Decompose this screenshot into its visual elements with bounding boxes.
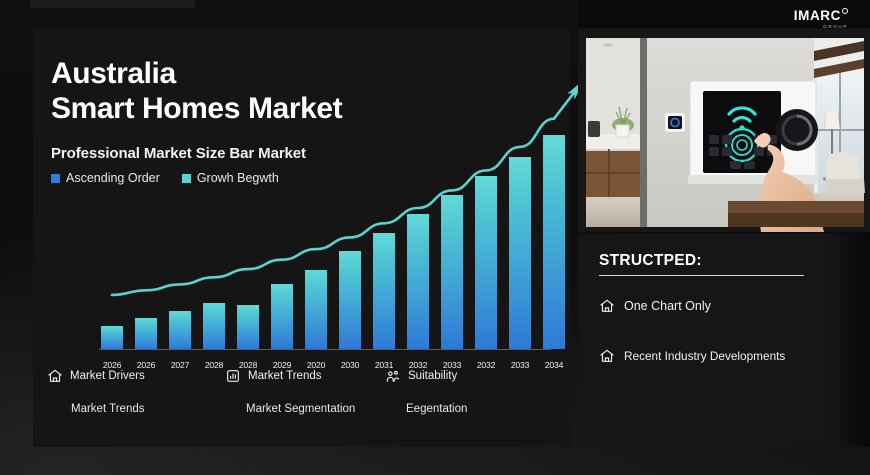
smart-home-illustration [578,29,870,232]
chart-bar [169,311,191,349]
chart-bar [237,305,259,349]
panel-right-fade [828,233,870,447]
structured-panel: STRUCTPED: One Chart Only Recent Industr… [578,233,870,447]
chart-bar [101,326,123,350]
report-icon [225,368,241,384]
feature-list: Market Drivers Market Trends Suitability [47,368,552,417]
chart-bar [373,233,395,349]
panel-divider [599,275,804,276]
feature-item-market-drivers[interactable]: Market Drivers [47,368,225,384]
home-icon [599,348,615,364]
panel-item-one-chart-only[interactable]: One Chart Only [599,298,711,314]
logo-circle-icon [842,8,848,14]
panel-item-label: One Chart Only [624,299,711,313]
feature-item-suitability[interactable]: Suitability [385,368,535,384]
chart-x-axis [99,349,551,350]
chart-bar [407,214,429,349]
panel-title: STRUCTPED: [599,252,702,270]
market-size-bar-chart: 2026202620272028202820292020203020312032… [51,88,551,378]
home-icon [47,368,63,384]
panel-item-label: Recent Industry Developments [624,349,785,363]
chart-bar [305,270,327,349]
chart-bar [271,284,293,349]
feature-row-secondary: Market Trends Market Segmentation Eegent… [47,399,552,417]
people-icon [385,368,401,384]
home-icon [599,298,615,314]
slide-root: IMARC GROUP Australia Smart Homes Market… [0,0,870,475]
chart-bar [441,195,463,349]
feature-label: Suitability [408,370,457,382]
feature-subitem-market-trends[interactable]: Market Trends [47,399,225,417]
title-line-1: Australia [51,57,342,92]
feature-item-market-trends[interactable]: Market Trends [225,368,385,384]
smart-home-photo [578,29,870,232]
feature-sublabel: Market Segmentation [246,403,355,415]
chart-bar [135,318,157,349]
feature-label: Market Trends [248,370,322,382]
top-left-accent-strip [30,0,195,8]
chart-bar [203,303,225,349]
logo-wordmark: IMARC [794,9,841,23]
chart-bar [543,135,565,349]
chart-bar [475,176,497,349]
feature-subitem-eegentation[interactable]: Eegentation [385,399,535,417]
feature-label: Market Drivers [70,370,145,382]
imarc-logo: IMARC GROUP [794,8,848,30]
chart-plot-area [101,114,549,349]
feature-sublabel: Eegentation [406,403,467,415]
main-content-card: Australia Smart Homes Market Professiona… [33,28,570,447]
feature-row-primary: Market Drivers Market Trends Suitability [47,368,552,384]
chart-bar [509,157,531,349]
chart-bar [339,251,361,349]
feature-subitem-market-segmentation[interactable]: Market Segmentation [225,399,385,417]
panel-item-recent-industry-developments[interactable]: Recent Industry Developments [599,348,785,364]
chart-bars [101,114,549,349]
feature-sublabel: Market Trends [71,403,145,415]
